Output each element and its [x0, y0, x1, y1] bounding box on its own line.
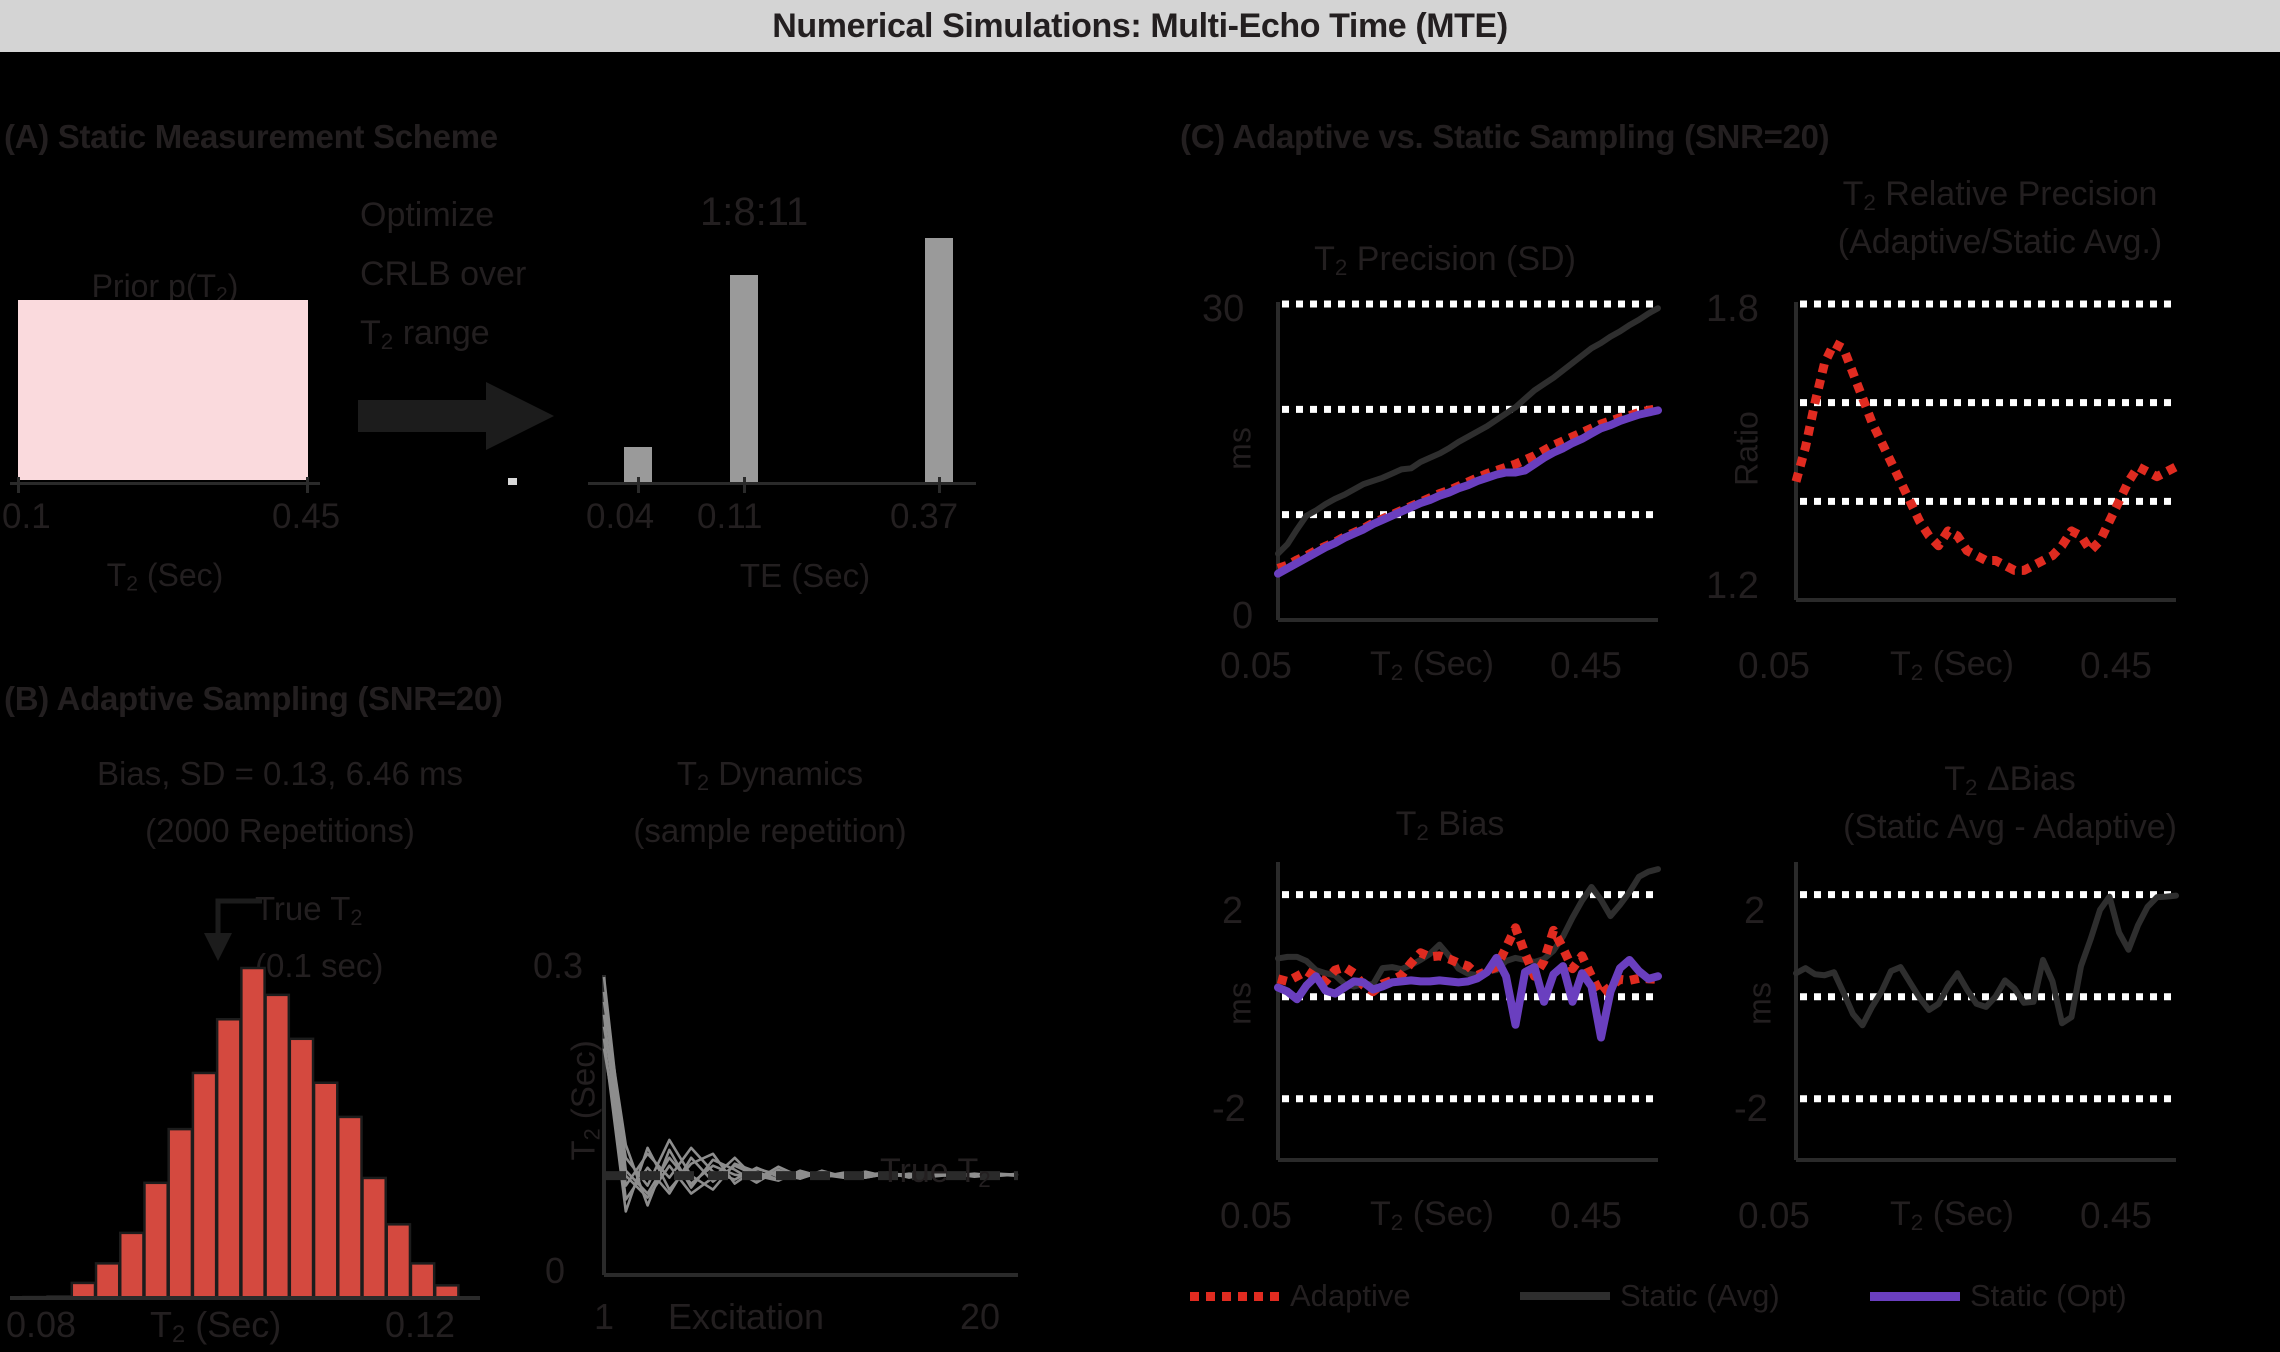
bias-x-axis-label: T2 (Sec) — [1370, 1195, 1494, 1236]
precision-ytick-max: 30 — [1202, 288, 1244, 331]
right-arrow-icon — [358, 378, 558, 454]
legend-label-adaptive: Adaptive — [1290, 1278, 1411, 1314]
dynamics-true-t2-label: True T2 — [880, 1152, 991, 1193]
te-tick-1 — [743, 477, 746, 493]
panel-c-heading: (C) Adaptive vs. Static Sampling (SNR=20… — [1180, 118, 1829, 156]
optimize-text-line-1: Optimize — [360, 196, 494, 235]
relative-precision-y-axis-label: Ratio — [1729, 374, 1766, 524]
dynamics-title-line-2: (sample repetition) — [520, 812, 1020, 850]
legend-label-static-opt: Static (Opt) — [1970, 1278, 2127, 1314]
delta-bias-chart — [1790, 860, 2180, 1180]
te-tick-2 — [938, 477, 941, 493]
bias-y-axis-label: ms — [1222, 944, 1259, 1064]
bias-ytick-max: 2 — [1222, 890, 1243, 933]
hist-annotation-line-1: True T2 — [255, 890, 362, 931]
hist-x-axis-label: T2 (Sec) — [150, 1304, 281, 1349]
legend-item-adaptive[interactable]: Adaptive — [1190, 1278, 1411, 1314]
prior-distribution-box — [18, 300, 308, 480]
relative-precision-chart — [1790, 300, 2180, 620]
delta-bias-y-axis-label: ms — [1742, 944, 1779, 1064]
relative-precision-xtick-min: 0.05 — [1738, 645, 1810, 687]
te-xtick-2: 0.37 — [890, 497, 958, 537]
prior-xtick-min: 0.1 — [2, 497, 51, 537]
te-xtick-0: 0.04 — [586, 497, 654, 537]
delta-bias-ytick-min: -2 — [1734, 1088, 1768, 1131]
page-title: Numerical Simulations: Multi-Echo Time (… — [772, 7, 1508, 46]
te-tick-0 — [637, 477, 640, 493]
panel-c-legend: Adaptive Static (Avg) Static (Opt) — [1180, 1272, 2270, 1334]
dynamics-ytick-min: 0 — [545, 1250, 565, 1292]
relative-precision-x-axis-label: T2 (Sec) — [1890, 645, 2014, 686]
legend-item-static-avg[interactable]: Static (Avg) — [1520, 1278, 1780, 1314]
delta-bias-title-line-1: T2 ΔBias — [1760, 760, 2260, 801]
bias-histogram-chart — [10, 960, 480, 1300]
hist-title-line-1: Bias, SD = 0.13, 6.46 ms — [10, 755, 550, 793]
stray-marker — [508, 478, 517, 485]
dynamics-ytick-max: 0.3 — [533, 945, 583, 987]
precision-xtick-min: 0.05 — [1220, 645, 1292, 687]
precision-x-axis-label: T2 (Sec) — [1370, 645, 1494, 686]
te-ratio-label: 1:8:11 — [700, 190, 808, 235]
precision-y-axis-label: ms — [1222, 389, 1259, 509]
hist-xtick-max: 0.12 — [385, 1304, 455, 1346]
te-x-axis-label: TE (Sec) — [640, 557, 970, 595]
prior-tick-left — [17, 477, 20, 493]
te-bar-2 — [925, 238, 953, 482]
legend-item-static-opt[interactable]: Static (Opt) — [1870, 1278, 2127, 1314]
te-bar-1 — [730, 275, 758, 482]
hist-xtick-min: 0.08 — [6, 1304, 76, 1346]
figure-title-bar: Numerical Simulations: Multi-Echo Time (… — [0, 0, 2280, 52]
relative-precision-ytick-min: 1.2 — [1706, 565, 1759, 608]
bias-xtick-min: 0.05 — [1220, 1195, 1292, 1237]
te-x-axis — [588, 482, 976, 485]
relative-precision-title-line-1: T2 Relative Precision — [1740, 175, 2260, 216]
panel-b-heading: (B) Adaptive Sampling (SNR=20) — [4, 680, 503, 718]
bias-chart — [1272, 860, 1662, 1180]
prior-tick-right — [306, 477, 309, 493]
prior-x-axis-label: T2 (Sec) — [20, 557, 310, 597]
optimize-text-line-3: T2 range — [360, 314, 490, 355]
dynamics-title-line-1: T2 Dynamics — [520, 755, 1020, 796]
bias-ytick-min: -2 — [1212, 1088, 1246, 1131]
delta-bias-xtick-max: 0.45 — [2080, 1195, 2152, 1237]
dynamics-xtick-max: 20 — [960, 1296, 1000, 1338]
hist-x-axis — [10, 1296, 480, 1300]
prior-x-axis — [10, 482, 320, 485]
t2-dynamics-chart — [600, 975, 1020, 1285]
delta-bias-title-line-2: (Static Avg - Adaptive) — [1760, 808, 2260, 847]
delta-bias-x-axis-label: T2 (Sec) — [1890, 1195, 2014, 1236]
static-opt-line-swatch-icon — [1870, 1292, 1960, 1301]
legend-label-static-avg: Static (Avg) — [1620, 1278, 1780, 1314]
precision-chart-title: T2 Precision (SD) — [1220, 240, 1670, 281]
te-xtick-1: 0.11 — [697, 497, 763, 537]
precision-chart — [1272, 300, 1662, 640]
optimize-text-line-2: CRLB over — [360, 255, 526, 294]
delta-bias-xtick-min: 0.05 — [1738, 1195, 1810, 1237]
bias-chart-title: T2 Bias — [1250, 805, 1650, 846]
precision-ytick-min: 0 — [1232, 595, 1253, 638]
relative-precision-xtick-max: 0.45 — [2080, 645, 2152, 687]
static-avg-line-swatch-icon — [1520, 1292, 1610, 1300]
panel-a-heading: (A) Static Measurement Scheme — [4, 118, 498, 156]
prior-xtick-max: 0.45 — [272, 497, 340, 537]
precision-xtick-max: 0.45 — [1550, 645, 1622, 687]
delta-bias-ytick-max: 2 — [1744, 890, 1765, 933]
bias-xtick-max: 0.45 — [1550, 1195, 1622, 1237]
adaptive-line-swatch-icon — [1190, 1292, 1280, 1301]
dynamics-x-axis-label: Excitation — [668, 1296, 824, 1338]
hist-title-line-2: (2000 Repetitions) — [10, 812, 550, 850]
relative-precision-title-line-2: (Adaptive/Static Avg.) — [1740, 223, 2260, 262]
true-t2-arrow-icon — [200, 895, 266, 965]
relative-precision-ytick-max: 1.8 — [1706, 288, 1759, 331]
dynamics-xtick-min: 1 — [594, 1296, 614, 1338]
